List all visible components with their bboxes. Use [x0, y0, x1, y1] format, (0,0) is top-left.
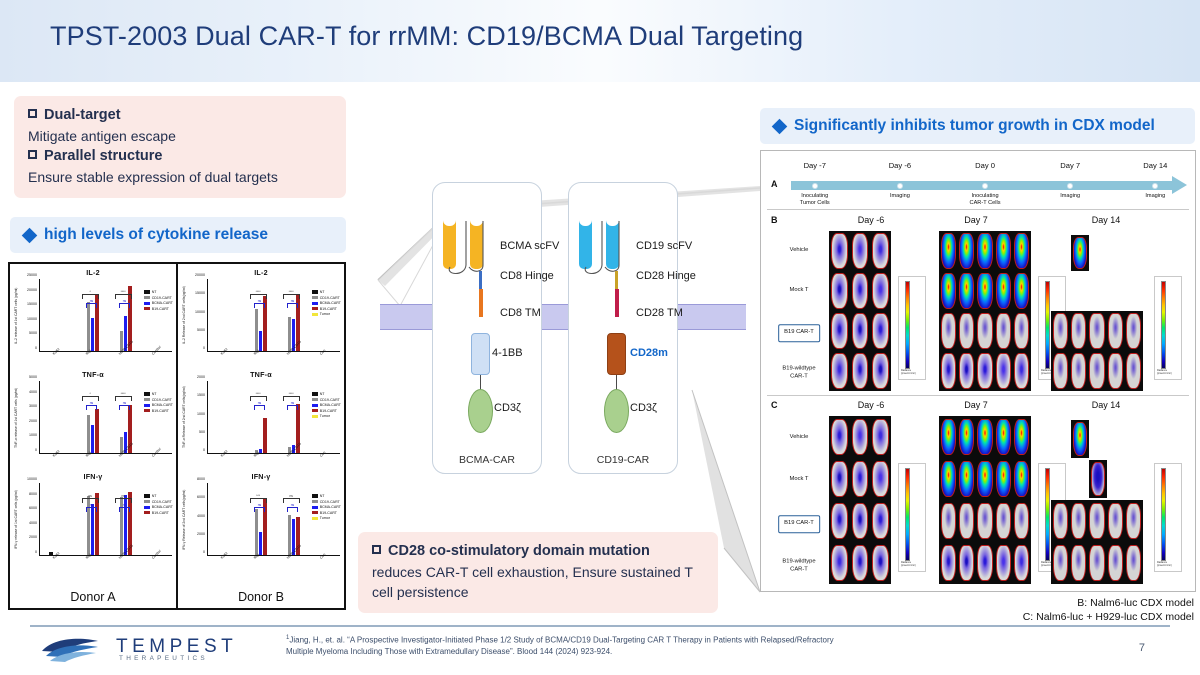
significance-bracket: [254, 405, 265, 410]
cd28m-domain: [607, 333, 626, 375]
chart-y-axis-label: IFN-γ release of 1st CART cells (pg/ml): [12, 483, 20, 556]
significance-bracket: [250, 294, 267, 299]
timeline-day-label: Day 14: [1143, 161, 1167, 170]
legend-label: BCMA-CART: [152, 403, 173, 407]
legend-label: B19-CART: [152, 409, 169, 413]
cdx-row-label: B19 CAR-T: [778, 515, 820, 533]
chart-legend: NTCD19-CARTBCMA-CARTB19-CART: [144, 392, 174, 413]
timeline-node: [897, 183, 903, 189]
label-cd3zeta-bcma: CD3ζ: [494, 402, 521, 414]
cdx-day-column-label: Day 14: [1092, 215, 1121, 225]
legend-label: NT: [320, 392, 325, 396]
footer-divider: [30, 625, 1170, 627]
legend-swatch: [144, 302, 150, 305]
significance-label: *: [90, 290, 91, 294]
legend-label: CD19-CART: [152, 398, 172, 402]
legend-label: Tumor: [320, 312, 330, 316]
mouse-image: [831, 353, 848, 388]
chart-TNF-DonorA: TNF-αTNF-α release of 1st CART cells (pg…: [12, 370, 174, 468]
mouse-image: [996, 419, 1011, 456]
colorbar-caption: Radiance (p/sec/cm²/sr): [901, 370, 916, 376]
mouse-image: [1126, 545, 1141, 582]
mouse-image: [1089, 313, 1104, 348]
cdx-row-label: B19-wildtype CAR-T: [782, 365, 815, 380]
significance-label: ns: [258, 401, 261, 405]
chart-legend: NTCD19-CARTBCMA-CARTB19-CARTTumor: [312, 494, 342, 520]
legend-entry: B19-CART: [312, 511, 342, 515]
legend-swatch: [312, 517, 318, 520]
bar: [288, 515, 292, 556]
mouse-image: [872, 233, 889, 268]
legend-swatch: [144, 409, 150, 412]
mouse-image: [941, 353, 956, 388]
chart-legend: NTCD19-CARTBCMA-CARTB19-CARTTumor: [312, 392, 342, 418]
legend-entry: BCMA-CART: [144, 505, 174, 509]
mouse-image: [852, 545, 869, 582]
callout-dual-head-1: Dual-target: [28, 105, 332, 126]
mouse-image: [1053, 503, 1068, 540]
timeline-event-label: Inoculating CAR-T Cells: [970, 193, 1001, 207]
cdx-day-column-label: Day -6: [858, 400, 885, 410]
significance-label: ns: [90, 401, 93, 405]
legend-swatch: [144, 511, 150, 514]
mouse-image: [1126, 503, 1141, 540]
legend-entry: CD19-CART: [312, 296, 342, 300]
mouse-image: [996, 273, 1011, 308]
mouse-image: [1014, 353, 1029, 388]
cdx-row-label: B19 CAR-T: [778, 324, 820, 342]
legend-entry: Tumor: [312, 312, 342, 316]
bar: [91, 318, 95, 351]
mouse-image: [941, 273, 956, 308]
mouse-image: [959, 273, 974, 308]
mouse-image: [996, 313, 1011, 348]
cdx-caption-c: C: Nalm6-luc + H929-luc CDX model: [774, 610, 1194, 624]
legend-entry: BCMA-CART: [144, 301, 174, 305]
legend-swatch: [144, 494, 150, 497]
mouse-image: [1071, 503, 1086, 540]
legend-swatch: [144, 296, 150, 299]
chart-x-categories: K562RajiH929-CD19Control: [39, 454, 172, 468]
mouse-image: [1071, 313, 1086, 348]
significance-label: ***: [256, 494, 260, 498]
mouse-image: [872, 353, 889, 388]
colorbar-frame: Radiance (p/sec/cm²/sr): [1154, 463, 1182, 571]
mouse-image: [872, 461, 889, 498]
mouse-image: [1091, 462, 1106, 495]
mouse-image: [831, 545, 848, 582]
callout-cd28-head: CD28 co-stimulatory domain mutation: [372, 541, 704, 562]
label-cd28-hinge: CD28 Hinge: [636, 270, 696, 282]
legend-entry: NT: [312, 290, 342, 294]
footnote-line-1: Jiang, H., et. al. “A Prospective Invest…: [289, 636, 833, 645]
bar-group: [217, 381, 238, 453]
linker: [480, 375, 481, 390]
cdx-day-column-label: Day -6: [858, 215, 885, 225]
donor-label: Donor A: [10, 590, 176, 604]
chart-x-categories: K562RajiH929-CD19Control: [39, 556, 172, 570]
mouse-image: [831, 419, 848, 456]
chart-IFN-DonorA: IFN-γIFN-γ release of 1st CART cells (pg…: [12, 472, 174, 570]
x-tick-label: Con: [319, 552, 326, 559]
legend-entry: B19-CART: [144, 307, 174, 311]
significance-label: ns: [123, 503, 126, 507]
bar-group: [250, 483, 271, 555]
significance-bracket: [86, 507, 97, 512]
bcma-car-card: BCMA-CAR: [432, 182, 542, 474]
mouse-image: [977, 313, 992, 348]
bioluminescence-image: [829, 416, 891, 584]
significance-label: ns: [123, 299, 126, 303]
legend-swatch: [144, 307, 150, 310]
chart-IFN-DonorB: IFN-γIFN-γ Release of 2nd CART cells(pg/…: [180, 472, 342, 570]
significance-label: ns: [291, 299, 294, 303]
linker: [616, 375, 617, 390]
legend-entry: NT: [144, 392, 174, 396]
significance-bracket: [119, 303, 130, 308]
mouse-image: [1053, 545, 1068, 582]
colorbar-frame: Radiance (p/sec/cm²/sr): [898, 276, 926, 380]
cd3zeta-domain-cd19: [604, 389, 629, 433]
significance-label: ns: [291, 401, 294, 405]
bar-group: [283, 483, 304, 555]
mouse-image: [852, 461, 869, 498]
legend-label: Tumor: [320, 414, 330, 418]
radiance-colorbar: [1161, 468, 1166, 560]
legend-entry: NT: [144, 290, 174, 294]
legend-label: NT: [320, 290, 325, 294]
bar: [255, 309, 259, 351]
timeline-event-label: Imaging: [1145, 193, 1165, 200]
bar: [49, 552, 53, 555]
legend-entry: B19-CART: [312, 307, 342, 311]
legend-entry: B19-CART: [144, 511, 174, 515]
mouse-image: [1108, 545, 1123, 582]
legend-entry: CD19-CART: [144, 500, 174, 504]
significance-bracket: [283, 294, 300, 299]
radiance-colorbar: [905, 468, 910, 560]
mouse-image: [872, 273, 889, 308]
checkbox-square-icon: [28, 150, 37, 159]
legend-entry: BCMA-CART: [144, 403, 174, 407]
legend-entry: BCMA-CART: [312, 505, 342, 509]
legend-entry: CD19-CART: [144, 398, 174, 402]
legend-entry: Tumor: [312, 516, 342, 520]
bar: [263, 418, 267, 453]
panel-b-images: Day -6Day 7Day 14VehicleMock TB19 CAR-TB…: [761, 213, 1195, 395]
timeline-day-label: Day 7: [1060, 161, 1080, 170]
mouse-image: [977, 461, 992, 498]
legend-entry: B19-CART: [144, 409, 174, 413]
cdx-row-label: Vehicle: [790, 434, 809, 442]
significance-label: ns: [90, 299, 93, 303]
bar: [259, 331, 263, 351]
mouse-image: [941, 313, 956, 348]
title-bar: TPST-2003 Dual CAR-T for rrMM: CD19/BCMA…: [0, 0, 1200, 82]
chart-y-axis-label: IL-2 release of 1st CART cells (pg/ml): [12, 279, 20, 352]
mouse-image: [1108, 353, 1123, 388]
timeline-event-label: Imaging: [890, 193, 910, 200]
bcma-car-caption: BCMA-CAR: [433, 454, 541, 466]
mouse-image: [1014, 461, 1029, 498]
radiance-colorbar: [1045, 468, 1050, 560]
legend-swatch: [312, 398, 318, 401]
mouse-image: [852, 353, 869, 388]
mouse-image: [831, 273, 848, 308]
mouse-image: [959, 233, 974, 268]
label-cd19-scfv: CD19 scFV: [636, 240, 692, 252]
legend-swatch: [144, 404, 150, 407]
chart-legend: NTCD19-CARTBCMA-CARTB19-CART: [144, 494, 174, 515]
cd28-hinge-segment: [615, 271, 618, 291]
significance-bracket: [82, 396, 99, 401]
logo-tagline: THERAPEUTICS: [119, 655, 208, 662]
legend-label: BCMA-CART: [320, 301, 341, 305]
bioluminescence-image: [939, 416, 1031, 458]
cd19-car-caption: CD19-CAR: [569, 454, 677, 466]
chart-y-axis-label: IL-2 Release of 2nd CART cells(pg/ml): [180, 279, 188, 352]
legend-swatch: [144, 500, 150, 503]
legend-label: NT: [320, 494, 325, 498]
colorbar-caption: Radiance (p/sec/cm²/sr): [1157, 562, 1172, 568]
legend-label: CD19-CART: [320, 398, 340, 402]
legend-label: CD19-CART: [152, 296, 172, 300]
mouse-image: [1073, 422, 1088, 455]
checkbox-square-icon: [28, 109, 37, 118]
footnote-line-2: Multiple Myeloma Including Those with Ex…: [286, 646, 1086, 658]
cdx-day-column-label: Day 7: [964, 215, 988, 225]
mouse-image: [1014, 233, 1029, 268]
colorbar-caption: Radiance (p/sec/cm²/sr): [901, 562, 916, 568]
chart-y-ticks: 02000400060008000: [188, 483, 207, 556]
mouse-image: [852, 313, 869, 348]
significance-bracket: [287, 303, 298, 308]
bar: [288, 317, 292, 351]
legend-swatch: [312, 290, 318, 293]
legend-label: BCMA-CART: [320, 505, 341, 509]
bioluminescence-image: [1089, 460, 1107, 498]
label-cd28m: CD28m: [630, 347, 668, 359]
chart-y-ticks: 0200040006000800010000: [20, 483, 39, 556]
mouse-image: [959, 461, 974, 498]
significance-label: ****: [289, 290, 294, 294]
significance-label: *: [90, 392, 91, 396]
legend-entry: NT: [144, 494, 174, 498]
mouse-image: [831, 233, 848, 268]
mouse-image: [852, 419, 869, 456]
callout-cd28-sub: reduces CAR-T cell exhaustion, Ensure su…: [372, 562, 704, 603]
bioluminescence-image: [939, 351, 1031, 391]
mouse-image: [1014, 503, 1029, 540]
divider-a-b: [767, 209, 1189, 210]
legend-swatch: [144, 398, 150, 401]
chart-y-ticks: 010002000300040005000: [20, 381, 39, 454]
significance-label: ****: [121, 290, 126, 294]
significance-bracket: [86, 303, 97, 308]
mouse-image: [1071, 545, 1086, 582]
significance-bracket: [115, 294, 132, 299]
mouse-image: [1126, 353, 1141, 388]
significance-label: ns: [121, 494, 124, 498]
significance-label: ****: [256, 290, 261, 294]
significance-label: ns: [258, 503, 261, 507]
section-header-cdx-label: Significantly inhibits tumor growth in C…: [794, 117, 1155, 135]
chart-y-axis-label: IFN-γ Release of 2nd CART cells(pg/ml): [180, 483, 188, 556]
colorbar-frame: Radiance (p/sec/cm²/sr): [1154, 276, 1182, 380]
diamond-bullet-icon: [772, 118, 788, 134]
mouse-image: [977, 233, 992, 268]
legend-label: CD19-CART: [152, 500, 172, 504]
colorbar-frame: Radiance (p/sec/cm²/sr): [898, 463, 926, 571]
significance-bracket: [254, 303, 265, 308]
panel-a-letter: A: [771, 179, 778, 189]
timeline-day-label: Day -7: [804, 161, 826, 170]
legend-swatch: [312, 409, 318, 412]
mouse-image: [1089, 353, 1104, 388]
legend-entry: NT: [312, 392, 342, 396]
bar-group: [49, 381, 65, 453]
legend-label: CD19-CART: [320, 296, 340, 300]
mouse-image: [977, 273, 992, 308]
legend-entry: BCMA-CART: [312, 301, 342, 305]
mouse-image: [1126, 313, 1141, 348]
radiance-colorbar: [1045, 281, 1050, 369]
significance-bracket: [287, 405, 298, 410]
mouse-image: [1053, 353, 1068, 388]
label-4-1bb: 4-1BB: [492, 347, 523, 359]
significance-bracket: [82, 294, 99, 299]
significance-label: ****: [289, 392, 294, 396]
divider-b-c: [767, 395, 1189, 396]
mouse-image: [1089, 503, 1104, 540]
bioluminescence-image: [1051, 500, 1143, 542]
legend-swatch: [144, 290, 150, 293]
mouse-image: [959, 545, 974, 582]
car-construct-diagram: BCMA-CAR CD19-CAR BCMA scFV CD8 Hinge CD…: [424, 182, 702, 474]
bar: [91, 425, 95, 453]
timeline-event-label: Imaging: [1060, 193, 1080, 200]
bioluminescence-image: [939, 458, 1031, 500]
bar-group: [217, 483, 238, 555]
legend-swatch: [312, 392, 318, 395]
legend-label: NT: [152, 392, 157, 396]
significance-bracket: [250, 498, 267, 503]
mouse-image: [941, 503, 956, 540]
checkbox-square-icon: [372, 545, 381, 554]
diamond-bullet-icon: [22, 227, 38, 243]
bar-group: [49, 279, 65, 351]
section-header-cytokine-label: high levels of cytokine release: [44, 226, 268, 244]
bioluminescence-image: [939, 231, 1031, 271]
panel-c-images: Day -6Day 7Day 14VehicleMock TB19 CAR-TB…: [761, 398, 1195, 591]
cd3zeta-domain-bcma: [468, 389, 493, 433]
timeline-day-label: Day -6: [889, 161, 911, 170]
mouse-image: [831, 503, 848, 540]
mouse-image: [941, 545, 956, 582]
bar: [255, 509, 259, 555]
cd28-tm-segment: [615, 289, 620, 317]
mouse-image: [977, 419, 992, 456]
page-title: TPST-2003 Dual CAR-T for rrMM: CD19/BCMA…: [50, 21, 803, 52]
significance-bracket: [115, 396, 132, 401]
mouse-image: [852, 503, 869, 540]
bcma-scfv-icon: [443, 217, 499, 271]
legend-swatch: [312, 511, 318, 514]
mouse-image: [959, 503, 974, 540]
significance-bracket: [254, 507, 265, 512]
4-1bb-domain: [471, 333, 490, 375]
mouse-image: [1108, 313, 1123, 348]
chart-IL2-DonorA: IL-2IL-2 release of 1st CART cells (pg/m…: [12, 268, 174, 366]
mouse-image: [872, 419, 889, 456]
mouse-image: [1089, 545, 1104, 582]
cdx-row-label: Mock T: [790, 476, 809, 484]
radiance-colorbar: [1161, 281, 1166, 369]
cdx-day-column-label: Day 14: [1092, 400, 1121, 410]
cytokine-charts-panel: IL-2IL-2 release of 1st CART cells (pg/m…: [8, 262, 346, 610]
significance-bracket: [86, 405, 97, 410]
mouse-image: [996, 503, 1011, 540]
mouse-image: [831, 313, 848, 348]
legend-label: BCMA-CART: [152, 301, 173, 305]
significance-bracket: [287, 507, 298, 512]
mouse-image: [831, 461, 848, 498]
timeline-node: [1067, 183, 1073, 189]
legend-label: B19-CART: [152, 511, 169, 515]
legend-swatch: [312, 296, 318, 299]
cdx-caption: B: Nalm6-luc CDX model C: Nalm6-luc + H9…: [774, 596, 1194, 624]
cdx-caption-b: B: Nalm6-luc CDX model: [774, 596, 1194, 610]
section-header-cdx: Significantly inhibits tumor growth in C…: [760, 108, 1195, 144]
cdx-day-column-label: Day 7: [964, 400, 988, 410]
footnote-reference: 1Jiang, H., et. al. “A Prospective Inves…: [286, 634, 1086, 658]
mouse-image: [1071, 353, 1086, 388]
legend-label: B19-CART: [152, 307, 169, 311]
radiance-colorbar: [905, 281, 910, 369]
mouse-image: [996, 233, 1011, 268]
legend-entry: CD19-CART: [312, 500, 342, 504]
mouse-image: [977, 503, 992, 540]
bioluminescence-image: [939, 542, 1031, 584]
significance-bracket: [283, 396, 300, 401]
mouse-image: [959, 419, 974, 456]
chart-y-ticks: 05000100001500020000: [188, 279, 207, 352]
significance-bracket: [283, 498, 300, 503]
chart-y-ticks: 0500100015002000: [188, 381, 207, 454]
mouse-image: [941, 419, 956, 456]
legend-entry: B19-CART: [312, 409, 342, 413]
legend-entry: BCMA-CART: [312, 403, 342, 407]
legend-swatch: [312, 302, 318, 305]
timeline-node: [1152, 183, 1158, 189]
legend-swatch: [312, 500, 318, 503]
callout-dual-sub-1: Mitigate antigen escape: [28, 126, 332, 146]
significance-label: ns: [88, 494, 91, 498]
chart-y-axis-label: TNF-α Release of 2nd CART cells(pg/ml): [180, 381, 188, 454]
mouse-image: [872, 545, 889, 582]
mouse-image: [977, 353, 992, 388]
tempest-logo: TEMPEST THERAPEUTICS: [38, 633, 223, 667]
legend-label: B19-CART: [320, 409, 337, 413]
callout-cd28-mutation: CD28 co-stimulatory domain mutation redu…: [358, 532, 718, 613]
cdx-row-label: B19-wildtype CAR-T: [782, 558, 815, 573]
chart-TNF-DonorB: TNF-αTNF-α Release of 2nd CART cells(pg/…: [180, 370, 342, 468]
bar-group: [49, 483, 65, 555]
significance-bracket: [119, 405, 130, 410]
legend-label: NT: [152, 290, 157, 294]
timeline-event-label: Inoculating Tumor Cells: [800, 193, 830, 207]
legend-label: NT: [152, 494, 157, 498]
